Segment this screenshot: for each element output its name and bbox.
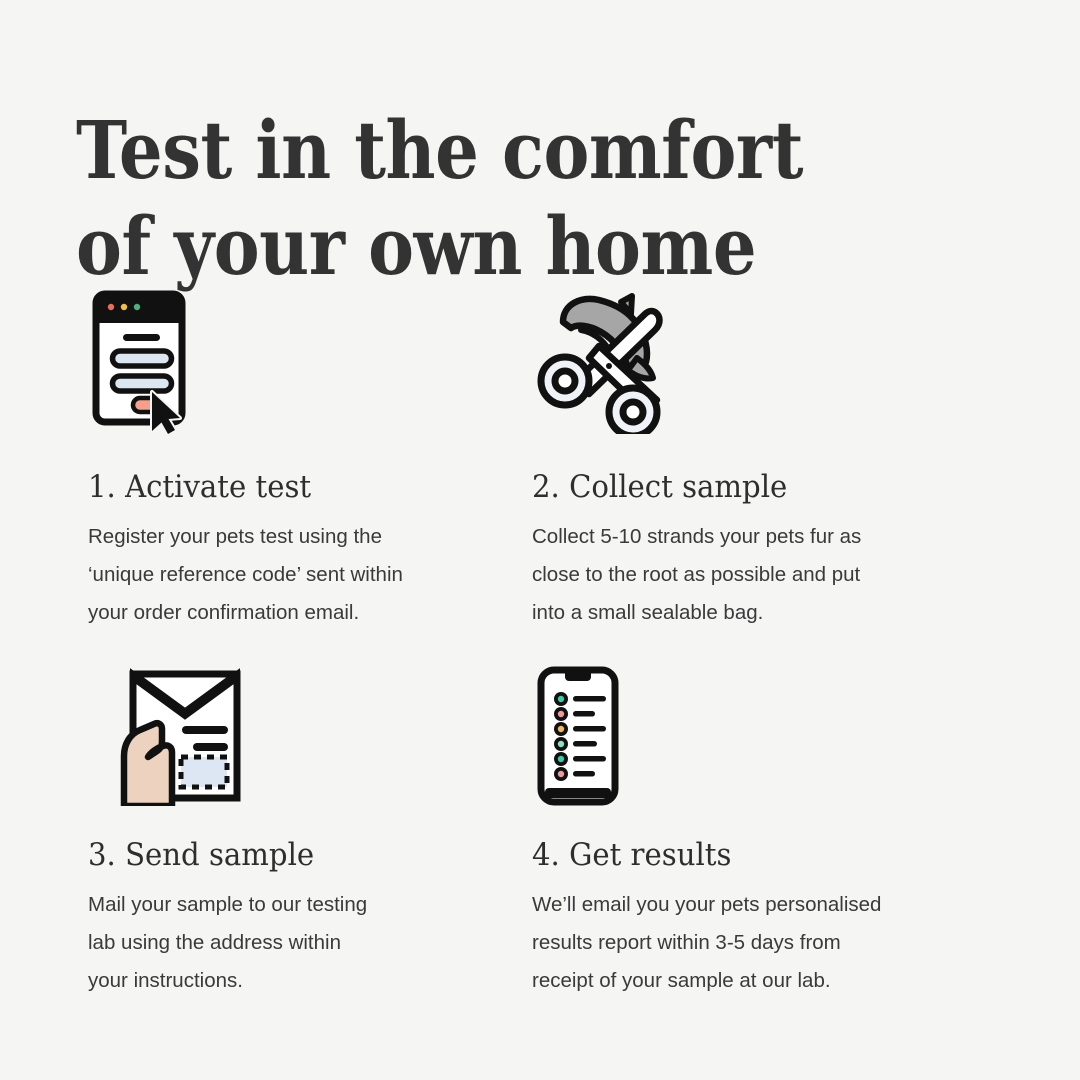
step-1-body-line-2: ‘unique reference code’ sent within [88,556,508,594]
steps-grid: 1. Activate test Register your pets test… [0,278,1080,1000]
step-3-body-line-3: your instructions. [88,962,508,1000]
step-1-body-line-1: Register your pets test using the [88,518,508,556]
step-3-body-line-1: Mail your sample to our testing [88,886,508,924]
step-1-body: Register your pets test using the ‘uniqu… [88,518,508,632]
step-1-title: 1. Activate test [88,468,505,506]
phone-results-list-icon [536,666,620,806]
step-4-body: We’ll email you your pets personalised r… [532,886,952,1000]
stamp-area [181,757,227,787]
step-3-title: 3. Send sample [88,836,505,874]
step-card-1: 1. Activate test Register your pets test… [88,278,532,656]
step-3-body-line-2: lab using the address within [88,924,508,962]
step-4-title: 4. Get results [532,836,949,874]
step-3-body: Mail your sample to our testing lab usin… [88,886,508,1000]
step-1-body-line-3: your order confirmation email. [88,594,508,632]
page-title-line-1: Test in the comfort [76,102,816,198]
traffic-light-green [134,304,140,310]
hand-holding-envelope-icon [108,664,248,806]
step-4-body-line-1: We’ll email you your pets personalised [532,886,952,924]
step-card-2: 2. Collect sample Collect 5-10 strands y… [532,278,976,656]
instructions-page: Test in the comfort of your own home [0,0,1080,1080]
step-4-body-line-2: results report within 3-5 days from [532,924,952,962]
traffic-light-yellow [121,304,127,310]
step-4-icon-wrap [532,656,976,806]
page-title: Test in the comfort of your own home [76,102,816,294]
step-2-icon-wrap [532,278,976,434]
step-2-body-line-1: Collect 5-10 strands your pets fur as [532,518,952,556]
browser-window-cursor-icon [90,288,194,434]
step-2-title: 2. Collect sample [532,468,949,506]
step-2-body: Collect 5-10 strands your pets fur as cl… [532,518,952,632]
step-2-body-line-2: close to the root as possible and put [532,556,952,594]
step-4-body-line-3: receipt of your sample at our lab. [532,962,952,1000]
step-card-3: 3. Send sample Mail your sample to our t… [88,656,532,1000]
step-card-4: 4. Get results We’ll email you your pets… [532,656,976,1000]
step-1-icon-wrap [88,278,532,434]
step-3-icon-wrap [88,656,532,806]
traffic-light-red [108,304,114,310]
scissors-cutting-fur-icon [533,284,683,434]
step-2-body-line-3: into a small sealable bag. [532,594,952,632]
